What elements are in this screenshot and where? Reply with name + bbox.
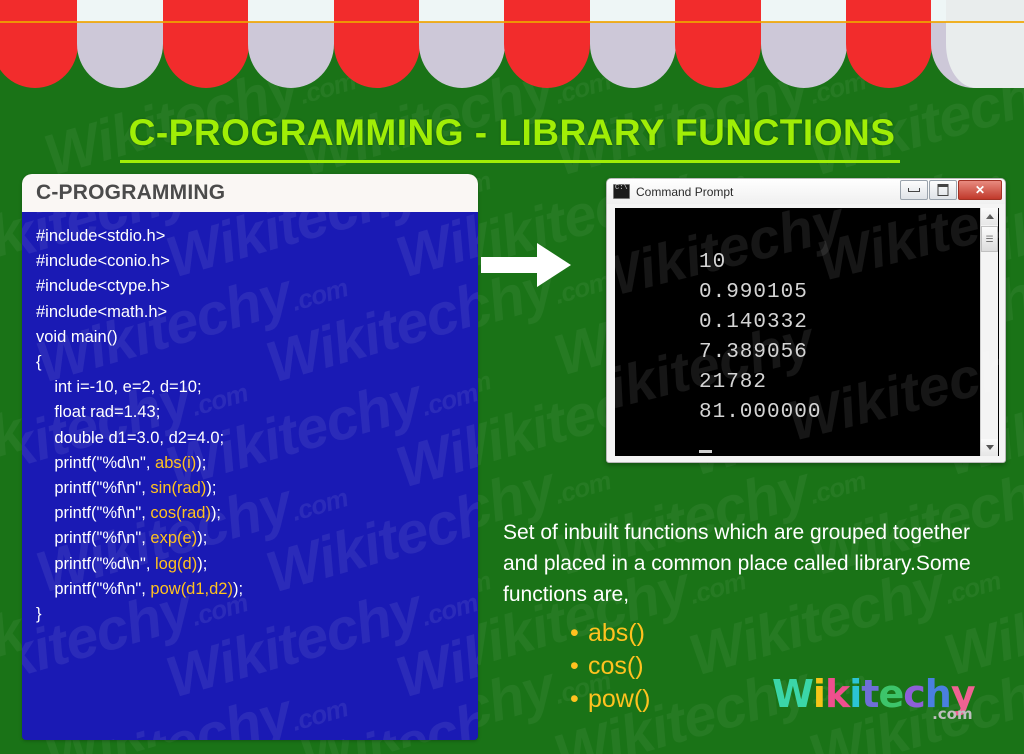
logo-letter: t	[861, 672, 878, 716]
awning-decoration	[0, 0, 1024, 90]
bullet-label: cos()	[588, 652, 644, 680]
cmd-title-bar[interactable]: Command Prompt ✕	[607, 179, 1005, 204]
bullet-label: abs()	[588, 619, 645, 647]
awning-scallop	[419, 0, 505, 88]
code-line: #include<ctype.h>	[36, 274, 478, 299]
code-panel-title: C-PROGRAMMING	[36, 181, 225, 205]
code-text: );	[206, 479, 216, 497]
code-text: float rad=1.43;	[36, 403, 160, 421]
console-output: 100.9901050.1403327.3890562178281.000000	[699, 248, 821, 456]
code-text: );	[196, 454, 206, 472]
awning-edge	[946, 0, 1024, 88]
close-button[interactable]: ✕	[958, 180, 1002, 200]
logo-letter: i	[813, 672, 825, 716]
code-text: double d1=3.0, d2=4.0;	[36, 429, 224, 447]
awning-scallop	[675, 0, 761, 88]
code-line: printf("%d\n", log(d));	[36, 552, 478, 577]
code-line: void main()	[36, 325, 478, 350]
awning-scallop	[504, 0, 590, 88]
code-panel-header: C-PROGRAMMING	[22, 174, 478, 212]
code-panel: C-PROGRAMMING Wikitechy.comWikitechy.com…	[22, 174, 478, 740]
code-text: );	[233, 580, 243, 598]
logo-letter: e	[878, 672, 903, 716]
minimize-button[interactable]	[900, 180, 928, 200]
console-output-line: 10	[699, 248, 821, 278]
code-function-call: cos(rad)	[150, 504, 211, 522]
console-screen[interactable]: Wikitechy Wikitechy Wikitechy Wikitechy …	[615, 208, 999, 456]
code-panel-body: Wikitechy.comWikitechy.comWikitechy.comW…	[22, 212, 478, 740]
code-text: #include<conio.h>	[36, 252, 170, 270]
code-line: double d1=3.0, d2=4.0;	[36, 426, 478, 451]
console-cursor	[699, 428, 821, 456]
logo-letter: k	[825, 672, 849, 716]
code-text: #include<math.h>	[36, 303, 167, 321]
bullet-item: •abs()	[570, 617, 651, 650]
title-underline	[120, 160, 900, 163]
function-bullet-list: •abs()•cos()•pow()	[570, 617, 651, 716]
awning-scallop	[248, 0, 334, 88]
console-output-line: 81.000000	[699, 398, 821, 428]
code-line: float rad=1.43;	[36, 400, 478, 425]
cmd-icon	[613, 184, 630, 199]
console-output-line: 0.990105	[699, 278, 821, 308]
bullet-label: pow()	[588, 685, 651, 713]
awning-scallop	[163, 0, 249, 88]
code-text: );	[197, 529, 207, 547]
code-text: #include<ctype.h>	[36, 277, 170, 295]
awning-trim-line	[0, 21, 1024, 23]
code-function-call: log(d)	[155, 555, 197, 573]
watermark-text: Wikitechy.com	[259, 664, 478, 740]
page-title: C-PROGRAMMING - LIBRARY FUNCTIONS	[0, 112, 1024, 154]
maximize-button[interactable]	[929, 180, 957, 200]
code-line: #include<stdio.h>	[36, 224, 478, 249]
bullet-marker: •	[570, 650, 588, 683]
awning-scallop	[0, 0, 78, 88]
console-output-line: 21782	[699, 368, 821, 398]
code-function-call: abs(i)	[155, 454, 196, 472]
code-text: printf("%f\n",	[36, 504, 150, 522]
logo-letter: c	[903, 672, 925, 716]
wikitechy-logo: Wikitechy.com	[772, 672, 975, 716]
bullet-marker: •	[570, 683, 588, 716]
window-controls[interactable]: ✕	[900, 180, 1002, 200]
scroll-down-arrow-icon[interactable]	[981, 439, 998, 456]
awning-scallop	[590, 0, 676, 88]
bullet-item: •pow()	[570, 683, 651, 716]
right-arrow-icon	[481, 243, 571, 287]
code-text: );	[197, 555, 207, 573]
code-line: printf("%f\n", exp(e));	[36, 526, 478, 551]
console-output-line: 7.389056	[699, 338, 821, 368]
code-function-call: sin(rad)	[150, 479, 206, 497]
code-line: {	[36, 350, 478, 375]
code-line: }	[36, 602, 478, 627]
code-text: #include<stdio.h>	[36, 227, 165, 245]
logo-suffix: .com	[932, 705, 973, 723]
bullet-item: •cos()	[570, 650, 651, 683]
code-text: }	[36, 605, 42, 623]
code-line: #include<math.h>	[36, 300, 478, 325]
code-line: int i=-10, e=2, d=10;	[36, 375, 478, 400]
watermark-text: Wikitechy.com	[29, 664, 353, 740]
awning-scallop	[761, 0, 847, 88]
code-text: void main()	[36, 328, 118, 346]
console-output-line: 0.140332	[699, 308, 821, 338]
code-text: int i=-10, e=2, d=10;	[36, 378, 202, 396]
code-line: printf("%f\n", cos(rad));	[36, 501, 478, 526]
code-function-call: exp(e)	[150, 529, 197, 547]
code-line: printf("%f\n", sin(rad));	[36, 476, 478, 501]
code-text: printf("%f\n",	[36, 580, 150, 598]
close-icon: ✕	[975, 183, 985, 197]
awning-scallop	[334, 0, 420, 88]
code-text: printf("%d\n",	[36, 454, 155, 472]
logo-letter: W	[772, 672, 813, 716]
logo-letter: i	[849, 672, 861, 716]
command-prompt-window[interactable]: Command Prompt ✕ Wikitechy Wikitechy Wik…	[606, 178, 1006, 463]
awning-scallop	[77, 0, 163, 88]
code-text: );	[211, 504, 221, 522]
cmd-window-title: Command Prompt	[636, 185, 733, 199]
code-text: {	[36, 353, 42, 371]
code-listing: #include<stdio.h>#include<conio.h>#inclu…	[36, 224, 478, 627]
code-line: printf("%d\n", abs(i));	[36, 451, 478, 476]
code-function-call: pow(d1,d2)	[150, 580, 233, 598]
code-line: printf("%f\n", pow(d1,d2));	[36, 577, 478, 602]
awning-scallop	[846, 0, 932, 88]
description-text: Set of inbuilt functions which are group…	[503, 517, 1003, 610]
code-text: printf("%f\n",	[36, 479, 150, 497]
code-line: #include<conio.h>	[36, 249, 478, 274]
bullet-marker: •	[570, 617, 588, 650]
code-text: printf("%d\n",	[36, 555, 155, 573]
code-text: printf("%f\n",	[36, 529, 150, 547]
